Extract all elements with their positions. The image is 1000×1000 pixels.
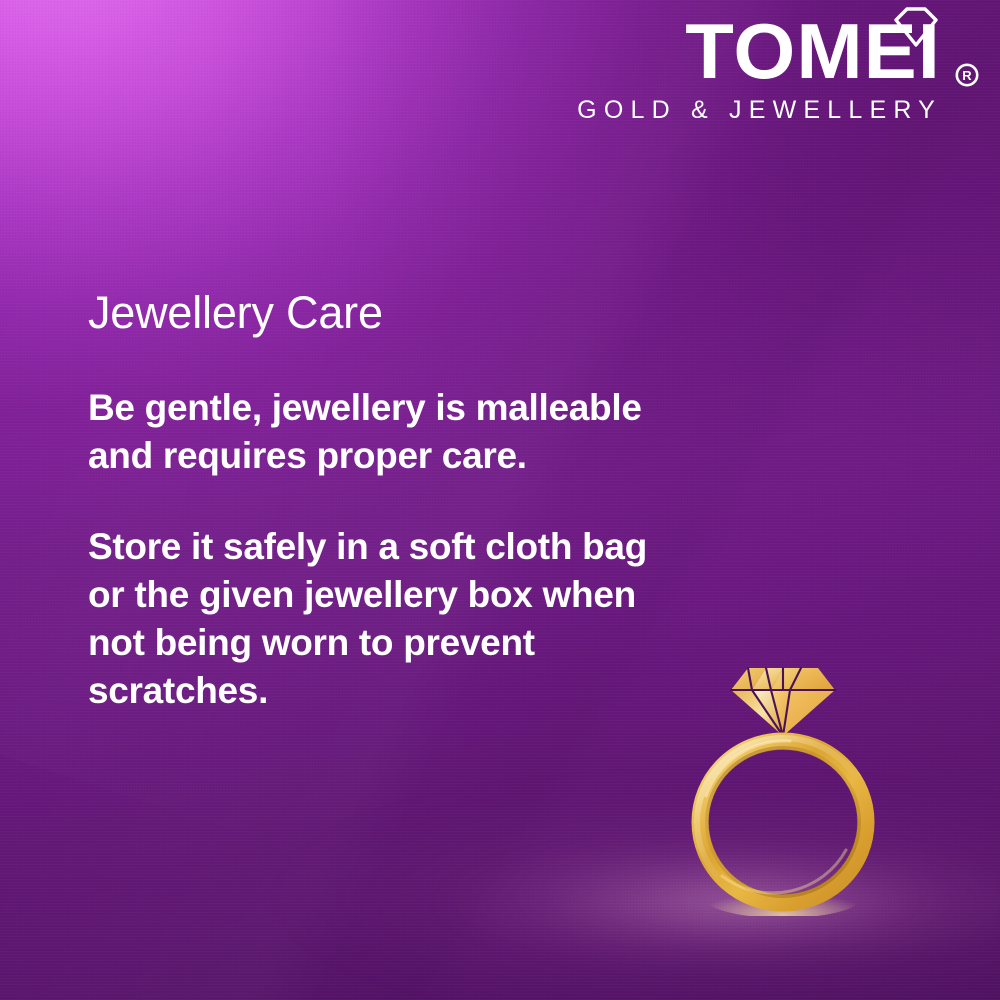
svg-text:R: R [962, 68, 972, 83]
gold-ring-band-icon [697, 738, 869, 916]
diamond-outline-icon [886, 6, 946, 48]
copy-block: Jewellery Care Be gentle, jewellery is m… [88, 288, 668, 715]
gold-diamond-ring-illustration [690, 636, 890, 916]
page-title: Jewellery Care [88, 288, 668, 338]
care-paragraph-1: Be gentle, jewellery is malleable and re… [88, 384, 668, 480]
care-paragraph-2: Store it safely in a soft cloth bag or t… [88, 523, 668, 715]
registered-trademark-icon: R [954, 62, 980, 88]
brand-logo[interactable]: TOMEI R GOLD & JEWELLERY [577, 8, 980, 123]
poster-canvas: TOMEI R GOLD & JEWELLERY Jewellery Care … [0, 0, 1000, 1000]
gold-diamond-icon [731, 668, 835, 736]
logo-wordmark-row: TOMEI R [577, 8, 980, 94]
logo-tagline-text: GOLD & JEWELLERY [577, 98, 980, 123]
